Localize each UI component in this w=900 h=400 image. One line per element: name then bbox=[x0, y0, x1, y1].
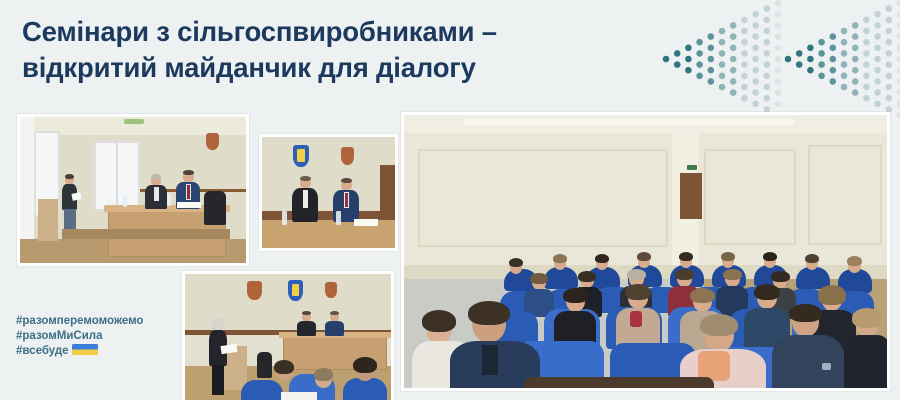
region-coat-of-arms bbox=[247, 281, 262, 300]
hashtag-item-1: #разомперемоможемо bbox=[16, 314, 143, 329]
photo-two-officials bbox=[259, 134, 398, 251]
photo-audience-main-scene bbox=[404, 115, 887, 388]
audience-parka-man bbox=[772, 307, 844, 391]
region-coat-of-arms bbox=[341, 147, 354, 165]
photo-two-officials-scene bbox=[262, 137, 395, 248]
photo-hall-podium-scene bbox=[20, 117, 246, 263]
title-line-2: відкритий майданчик для діалогу bbox=[22, 50, 662, 86]
hashtag-item-3-text: #всебуде bbox=[16, 345, 69, 357]
photo-audience-main bbox=[401, 112, 890, 391]
ukraine-flag-icon bbox=[72, 344, 98, 355]
audience-fur-hood-woman bbox=[844, 311, 890, 391]
hashtag-item-2: #разомМиСила bbox=[16, 329, 143, 344]
photo-hall-podium bbox=[17, 114, 249, 266]
title-line-1: Семінари з сільгоспвиробниками – bbox=[22, 14, 662, 50]
chevron-dot-svg bbox=[660, 0, 900, 118]
hashtag-item-3: #всебуде bbox=[16, 344, 143, 359]
photo-woman-speaker-scene bbox=[185, 274, 391, 400]
photo-woman-speaker bbox=[182, 271, 394, 400]
chevron-dot-pattern bbox=[660, 0, 900, 118]
page-title: Семінари з сільгоспвиробниками – відкрит… bbox=[22, 14, 662, 86]
region-coat-of-arms-2 bbox=[325, 282, 337, 298]
hashtag-block: #разомперемоможемо #разомМиСила #всебуде bbox=[16, 314, 143, 359]
